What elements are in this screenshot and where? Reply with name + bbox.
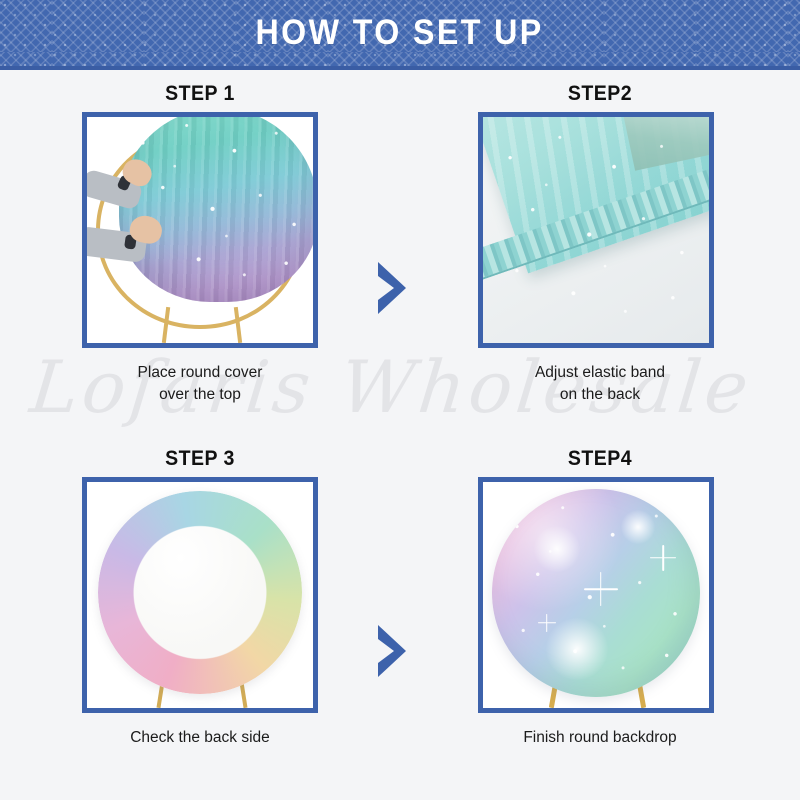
step-card-2: STEP2 Adjust elastic band on the back bbox=[400, 70, 800, 435]
steps-grid: STEP 1 bbox=[0, 70, 800, 800]
step-label-1: STEP 1 bbox=[14, 82, 386, 106]
header-banner: HOW TO SET UP bbox=[0, 0, 800, 70]
step-image-3 bbox=[87, 482, 313, 708]
step-caption-2: Adjust elastic band on the back bbox=[400, 362, 800, 406]
step-label-3: STEP 3 bbox=[14, 447, 386, 471]
step-image-1 bbox=[87, 117, 313, 343]
glow-spot-shape bbox=[546, 618, 608, 680]
step-image-2 bbox=[483, 117, 709, 343]
step-caption-2-line2: on the back bbox=[400, 384, 800, 406]
pastel-rim-shape bbox=[98, 491, 301, 694]
glow-spot-shape bbox=[621, 510, 655, 544]
fabric-folds-shape bbox=[119, 117, 313, 302]
step-caption-2-line1: Adjust elastic band bbox=[400, 362, 800, 384]
gradient-cover-shape bbox=[119, 117, 313, 302]
glow-spot-shape bbox=[534, 526, 580, 572]
sparkle-star-icon bbox=[584, 572, 618, 606]
step-image-frame-2 bbox=[478, 112, 714, 348]
step-image-4 bbox=[483, 482, 709, 708]
step-label-2: STEP2 bbox=[414, 82, 786, 106]
step-label-4: STEP4 bbox=[414, 447, 786, 471]
step-caption-1-line2: over the top bbox=[0, 384, 400, 406]
page-title: HOW TO SET UP bbox=[256, 13, 544, 53]
step-image-frame-3 bbox=[82, 477, 318, 713]
step-caption-1: Place round cover over the top bbox=[0, 362, 400, 406]
step-card-4: STEP4 bbox=[400, 435, 800, 800]
sparkle-star-icon bbox=[650, 545, 676, 571]
step-card-3: STEP 3 Check the back side bbox=[0, 435, 400, 800]
back-side-disc-shape bbox=[98, 491, 301, 694]
finished-backdrop-disc-shape bbox=[492, 489, 700, 697]
step-caption-4-line1: Finish round backdrop bbox=[400, 727, 800, 749]
step-image-frame-4 bbox=[478, 477, 714, 713]
step-card-1: STEP 1 bbox=[0, 70, 400, 435]
step-caption-1-line1: Place round cover bbox=[0, 362, 400, 384]
step-caption-3: Check the back side bbox=[0, 727, 400, 749]
step-caption-3-line1: Check the back side bbox=[0, 727, 400, 749]
step-image-frame-1 bbox=[82, 112, 318, 348]
how-to-set-up-infographic: HOW TO SET UP Lofaris Wholesale STEP 1 bbox=[0, 0, 800, 800]
step-caption-4: Finish round backdrop bbox=[400, 727, 800, 749]
